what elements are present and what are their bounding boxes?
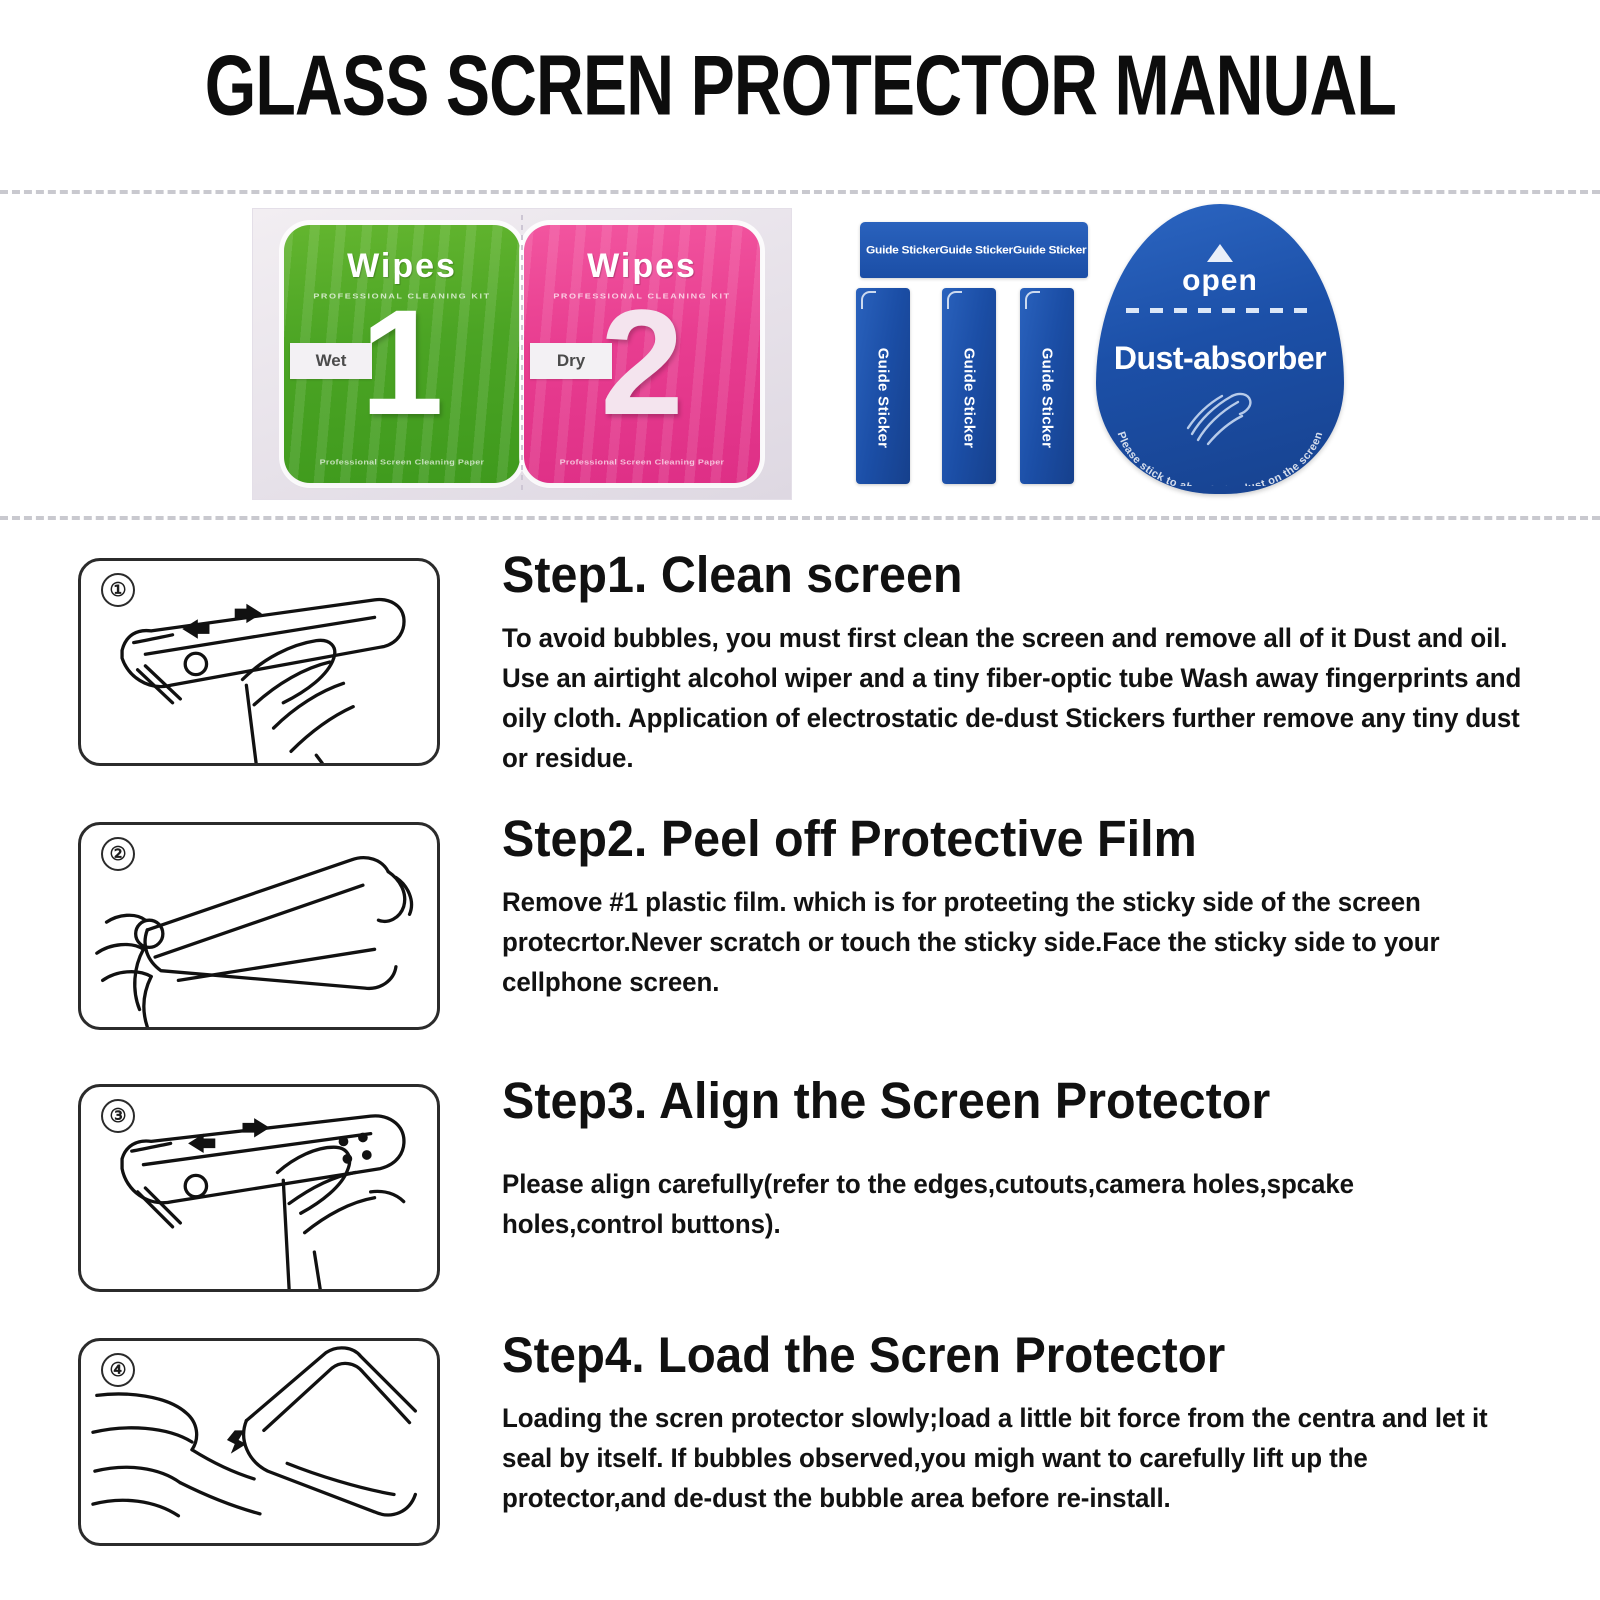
step-text-block: Step1. Clean screen To avoid bubbles, yo…	[440, 546, 1600, 778]
step-index-badge: ④	[101, 1353, 135, 1387]
step-body: Please align carefully(refer to the edge…	[502, 1164, 1522, 1244]
peel-film-icon: ②	[78, 822, 440, 1030]
align-protector-icon: ③	[78, 1084, 440, 1292]
wipes-brand-sub-label: PROFESSIONAL CLEANING KIT	[313, 292, 490, 301]
wipes-brand-sub-label: PROFESSIONAL CLEANING KIT	[553, 292, 730, 301]
step-row: ① Step1. Clean screen To avoid bubbles, …	[0, 546, 1600, 810]
dust-absorber-sticker: open Dust-absorber Please stick to absor…	[1096, 204, 1344, 494]
wipes-pack: Wipes PROFESSIONAL CLEANING KIT 1 Wet Pr…	[252, 208, 792, 500]
step-heading: Step2. Peel off Protective Film	[502, 810, 1511, 868]
wipes-footer-label: Professional Screen Cleaning Paper	[524, 458, 760, 467]
wipes-brand-label: Wipes	[347, 247, 457, 286]
step-row: ③ Step3. Align the Screen Protector Plea…	[0, 1072, 1600, 1326]
kit-contents-row: Wipes PROFESSIONAL CLEANING KIT 1 Wet Pr…	[0, 200, 1600, 510]
manual-page: GLASS SCREN PROTECTOR MANUAL Wipes PROFE…	[0, 0, 1600, 1600]
wipes-footer-label: Professional Screen Cleaning Paper	[284, 458, 520, 467]
step-text-block: Step4. Load the Scren Protector Loading …	[440, 1326, 1600, 1518]
steps-section: ① Step1. Clean screen To avoid bubbles, …	[0, 546, 1600, 1596]
wipes-wet-tag: Wet	[290, 343, 372, 379]
peel-corner-icon	[861, 291, 876, 309]
guide-sticker-strip: Guide Sticker	[1020, 288, 1074, 484]
guide-sticker-header: Guide Sticker Guide Sticker Guide Sticke…	[860, 222, 1088, 278]
dust-absorber-title: Dust-absorber	[1096, 340, 1344, 377]
press-protector-icon: ④	[78, 1338, 440, 1546]
hand-peel-icon	[1178, 382, 1262, 448]
step-text-block: Step2. Peel off Protective Film Remove #…	[440, 810, 1600, 1002]
guide-sticker-strip-label: Guide Sticker	[1039, 347, 1056, 448]
step-body: Remove #1 plastic film. which is for pro…	[502, 882, 1522, 1002]
step-index-badge: ③	[101, 1099, 135, 1133]
guide-sticker-strip: Guide Sticker	[942, 288, 996, 484]
page-title: GLASS SCREN PROTECTOR MANUAL	[0, 38, 1600, 120]
dust-absorber-open-label: open	[1096, 264, 1344, 298]
step-row: ④ Step4. Load the Scren Protector Loadin…	[0, 1326, 1600, 1596]
step-row: ② Step2. Peel off Protective Film Remove…	[0, 810, 1600, 1072]
wipes-dry-tag: Dry	[530, 343, 612, 379]
step-index-badge: ②	[101, 837, 135, 871]
peel-corner-icon	[947, 291, 962, 309]
wipes-brand-label: Wipes	[587, 247, 697, 286]
guide-sticker-strip-label: Guide Sticker	[961, 347, 978, 448]
divider-bottom	[0, 516, 1600, 520]
divider-top	[0, 190, 1600, 194]
peel-corner-icon	[1025, 291, 1040, 309]
guide-sticker-strip-label: Guide Sticker	[875, 347, 892, 448]
hand-wiping-phone-icon: ①	[78, 558, 440, 766]
page-title-text: GLASS SCREN PROTECTOR MANUAL	[204, 38, 1395, 135]
step-body: Loading the scren protector slowly;load …	[502, 1398, 1522, 1518]
step-heading: Step3. Align the Screen Protector	[502, 1072, 1511, 1130]
step-heading: Step4. Load the Scren Protector	[502, 1326, 1511, 1384]
step-index-badge: ①	[101, 573, 135, 607]
guide-sticker-header-label: Guide Sticker	[866, 244, 939, 257]
tear-line-icon	[1126, 308, 1314, 313]
step-body: To avoid bubbles, you must first clean t…	[502, 618, 1522, 778]
dry-wipe-sachet: Wipes PROFESSIONAL CLEANING KIT 2 Dry Pr…	[524, 225, 760, 483]
guide-sticker-header-label: Guide Sticker	[1013, 244, 1086, 257]
guide-sticker-strip: Guide Sticker	[856, 288, 910, 484]
step-text-block: Step3. Align the Screen Protector Please…	[440, 1072, 1600, 1244]
guide-sticker-header-label: Guide Sticker	[939, 244, 1012, 257]
wet-wipe-sachet: Wipes PROFESSIONAL CLEANING KIT 1 Wet Pr…	[284, 225, 520, 483]
step-heading: Step1. Clean screen	[502, 546, 1511, 604]
open-triangle-icon	[1207, 244, 1233, 262]
guide-sticker-group: Guide Sticker Guide Sticker Guide Sticke…	[856, 210, 1092, 495]
